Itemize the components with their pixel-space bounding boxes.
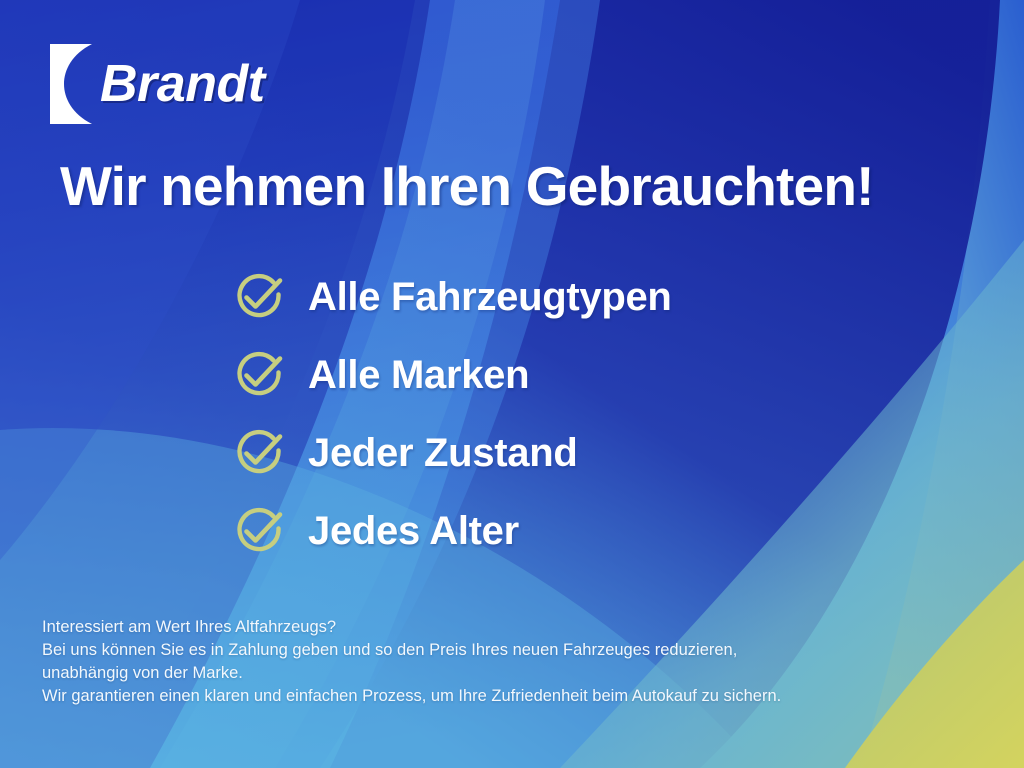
footer-line: Wir garantieren einen klaren und einfach… [42,685,942,708]
brand-name: Brandt [100,58,265,110]
benefit-label: Jedes Alter [308,511,519,551]
benefit-label: Alle Marken [308,355,529,395]
footer-line: unabhängig von der Marke. [42,662,942,685]
promo-banner: Brandt Wir nehmen Ihren Gebrauchten! All… [0,0,1024,768]
list-item: Jedes Alter [232,492,972,570]
bracket-c-mark-icon [48,42,94,126]
footer-line: Interessiert am Wert Ihres Altfahrzeugs? [42,616,942,639]
list-item: Alle Marken [232,336,972,414]
circle-check-icon [232,270,286,324]
benefit-list: Alle Fahrzeugtypen Alle Marken Jeder Zus… [232,258,972,570]
circle-check-icon [232,348,286,402]
list-item: Alle Fahrzeugtypen [232,258,972,336]
benefit-label: Jeder Zustand [308,433,578,473]
list-item: Jeder Zustand [232,414,972,492]
brand-logo[interactable]: Brandt [48,42,265,126]
circle-check-icon [232,504,286,558]
page-title: Wir nehmen Ihren Gebrauchten! [60,158,990,216]
footer-line: Bei uns können Sie es in Zahlung geben u… [42,639,942,662]
benefit-label: Alle Fahrzeugtypen [308,277,672,317]
footer-description: Interessiert am Wert Ihres Altfahrzeugs?… [42,616,942,708]
circle-check-icon [232,426,286,480]
